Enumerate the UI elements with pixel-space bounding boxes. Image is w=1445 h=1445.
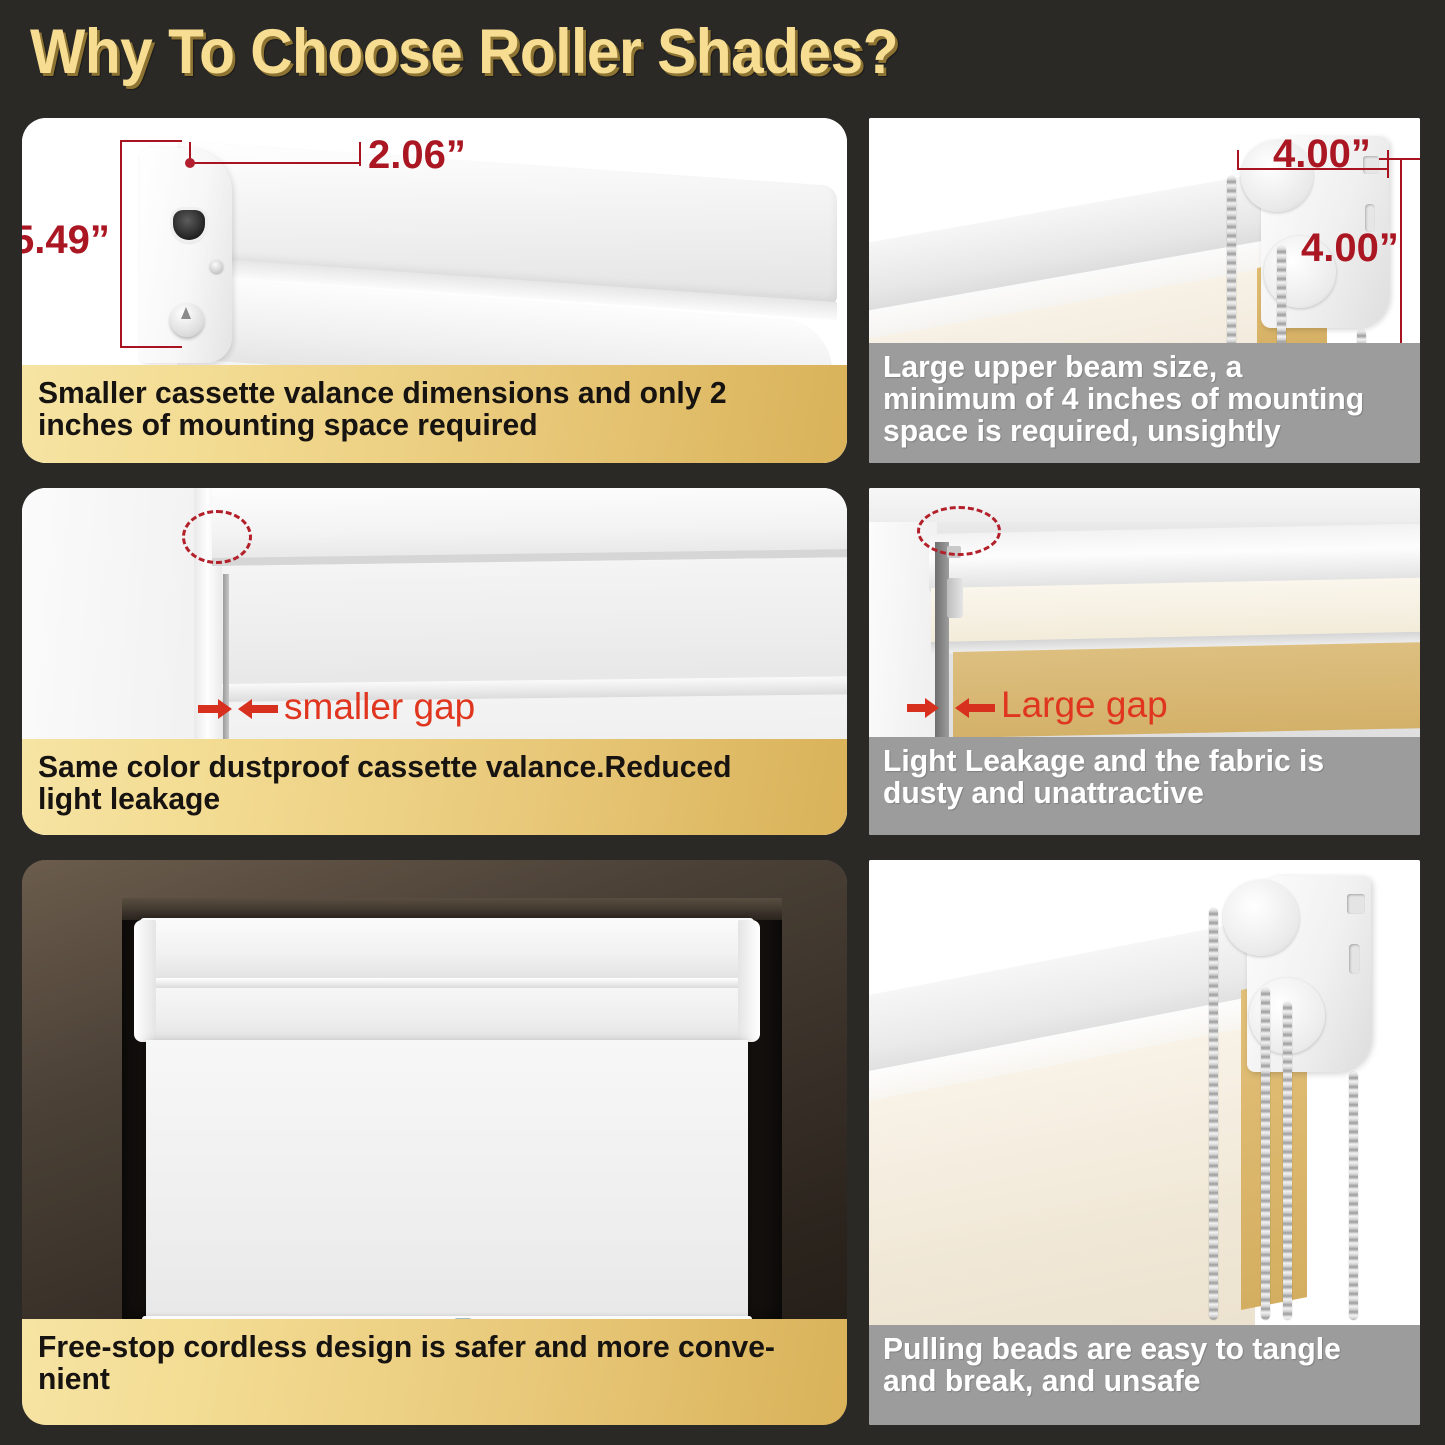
dimension-height-label: 5.49”: [22, 218, 110, 263]
panel-5-caption: Free-stop cordless design is safer and m…: [22, 1319, 847, 1425]
panel-6-caption: Pulling beads are easy to tangle and bre…: [869, 1325, 1420, 1425]
caption-line: light leakage: [38, 783, 807, 815]
panel-cordless-design: Free-stop cordless design is safer and m…: [22, 860, 847, 1425]
dim-line-width: [189, 162, 361, 164]
caption-line: Large upper beam size, a: [883, 351, 1390, 383]
caption-line: Pulling beads are easy to tangle: [883, 1333, 1390, 1365]
caption-line: and break, and unsafe: [883, 1365, 1390, 1397]
panel-smaller-gap: smaller gap Same color dustproof cassett…: [22, 488, 847, 835]
panel-large-gap: Large gap Light Leakage and the fabric i…: [869, 488, 1420, 835]
gap-label: smaller gap: [284, 686, 475, 728]
panel-pulling-beads: Pulling beads are easy to tangle and bre…: [869, 860, 1420, 1425]
panel-smaller-cassette: 2.06” 5.49” Smaller cassette valance dim…: [22, 118, 847, 463]
page-title: Why To Choose Roller Shades?: [30, 16, 898, 88]
bead-chain: [1261, 988, 1270, 1320]
caption-line: nient: [38, 1363, 807, 1395]
panel-large-beam: 4.00” 4.00” Large upper beam size, a min…: [869, 118, 1420, 463]
caption-line: minimum of 4 inches of mounting: [883, 383, 1390, 415]
highlight-circle: [917, 506, 1001, 556]
caption-line: Light Leakage and the fabric is: [883, 745, 1390, 777]
caption-line: Smaller cassette valance dimensions and …: [38, 377, 807, 409]
bead-chain: [1349, 1072, 1358, 1320]
gap-label: Large gap: [1001, 684, 1168, 726]
infographic-root: Why To Choose Roller Shades? 2.06”: [0, 0, 1445, 1445]
panel-2-caption: Large upper beam size, a minimum of 4 in…: [869, 343, 1420, 463]
gap-arrow-right: [250, 705, 278, 713]
highlight-circle: [182, 510, 252, 564]
bead-chain: [1209, 908, 1218, 1320]
gap-arrow-right: [967, 704, 995, 712]
caption-line: space is required, unsightly: [883, 415, 1390, 447]
dimension-width-label: 4.00”: [1273, 132, 1371, 177]
panel-4-caption: Light Leakage and the fabric is dusty an…: [869, 737, 1420, 835]
panel-1-caption: Smaller cassette valance dimensions and …: [22, 365, 847, 463]
caption-line: Free-stop cordless design is safer and m…: [38, 1331, 807, 1363]
caption-line: dusty and unattractive: [883, 777, 1390, 809]
caption-line: Same color dustproof cassette valance.Re…: [38, 751, 807, 783]
caption-line: inches of mounting space required: [38, 409, 807, 441]
dimension-height-label: 4.00”: [1301, 226, 1399, 271]
dimension-width-label: 2.06”: [368, 133, 466, 178]
panel-3-caption: Same color dustproof cassette valance.Re…: [22, 739, 847, 835]
bead-chain: [1283, 1002, 1292, 1320]
